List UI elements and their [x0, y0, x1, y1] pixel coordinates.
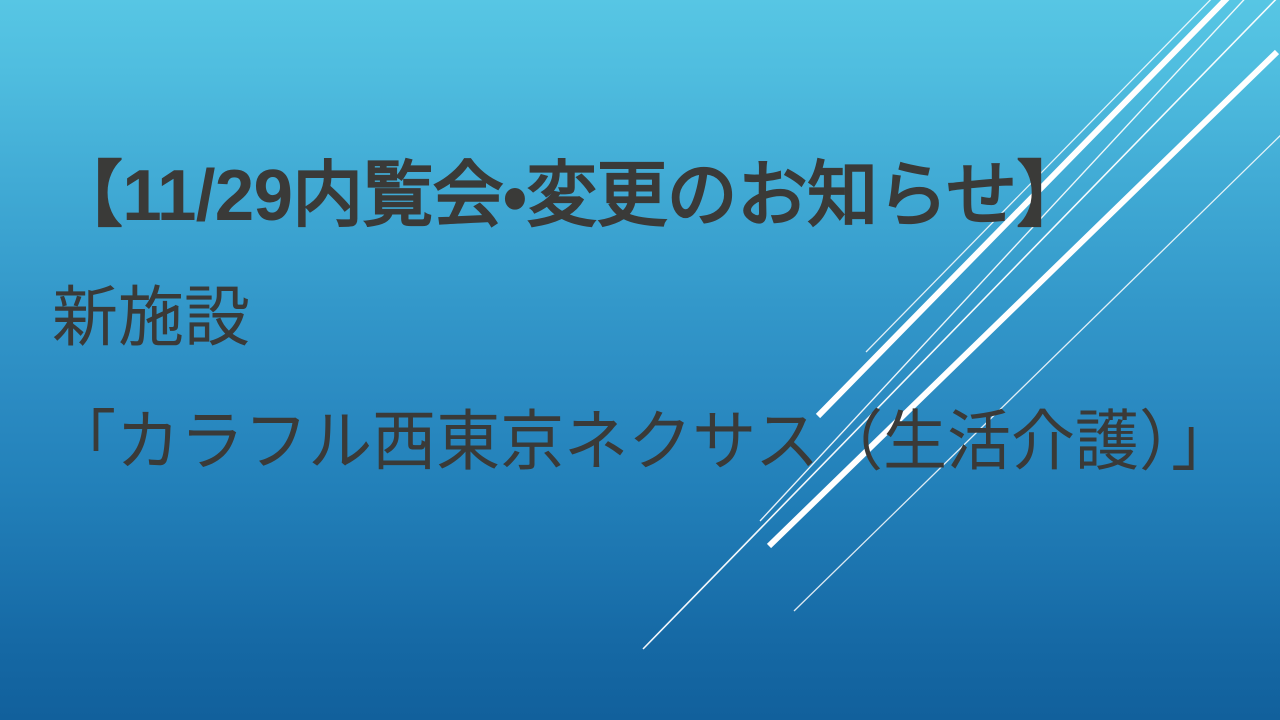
slide-text-block: 【11/29内覧会・変更のお知らせ】 新施設 「カラフル西東京ネクサス（生活介護… [52, 160, 1262, 474]
slide-heading: 【11/29内覧会・変更のお知らせ】 [52, 160, 1244, 232]
slide-subtitle-line-1: 新施設 [52, 284, 1262, 350]
slide-subtitle-line-2: 「カラフル西東京ネクサス（生活介護）」 [52, 408, 1226, 474]
presentation-slide: 【11/29内覧会・変更のお知らせ】 新施設 「カラフル西東京ネクサス（生活介護… [0, 0, 1280, 720]
